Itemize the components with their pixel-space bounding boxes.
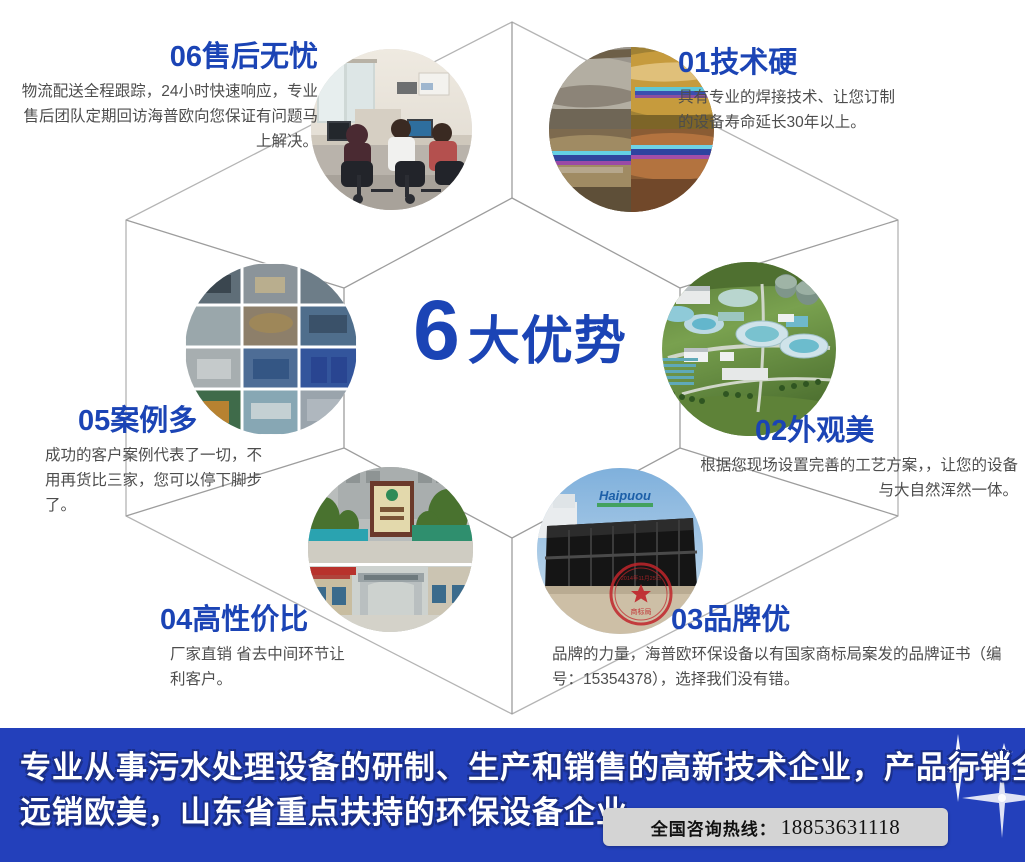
center-word: 大优势: [468, 316, 627, 368]
banner-line-2: 远销欧美，山东省重点扶持的环保设备企业。: [20, 791, 620, 836]
advantage-heading-03: 03品牌优: [671, 605, 1022, 637]
advantage-block-04: 04高性价比 厂家直销 省去中间环节让利客户。: [160, 605, 460, 692]
advantage-heading-04: 04高性价比: [160, 605, 460, 637]
photo-office-staff: [311, 49, 472, 210]
advantage-heading-05: 05案例多: [78, 406, 378, 438]
svg-text:Haipuou: Haipuou: [599, 488, 651, 503]
bottom-banner: 专业从事污水处理设备的研制、生产和销售的高新技术企业，产品行销全国并 远销欧美，…: [0, 728, 1025, 862]
advantage-body-06: 物流配送全程跟踪，24小时快速响应，专业售后团队定期回访海普欧向您保证有问题马上…: [18, 79, 318, 154]
advantage-heading-02: 02外观美: [755, 416, 1018, 448]
hotline-number: 18853631118: [781, 815, 900, 840]
center-title: 6 大优势: [380, 288, 660, 388]
advantage-block-03: 03品牌优 品牌的力量，海普欧环保设备以有国家商标局案发的品牌证书（编号：153…: [552, 605, 1022, 692]
banner-line-1: 专业从事污水处理设备的研制、生产和销售的高新技术企业，产品行销全国并: [20, 746, 620, 791]
advantage-block-05: 05案例多 成功的客户案例代表了一切，不用再货比三家，您可以停下脚步了。: [78, 406, 378, 518]
advantage-block-01: 01技术硬 具有专业的焊接技术、让您订制的设备寿命延长30年以上。: [678, 48, 978, 135]
advantage-block-02: 02外观美 根据您现场设置完善的工艺方案，，让您的设备与大自然浑然一体。: [700, 416, 1018, 503]
advantage-heading-01: 01技术硬: [678, 48, 978, 80]
infographic-stage: 6 大优势: [0, 0, 1025, 862]
advantage-body-02: 根据您现场设置完善的工艺方案，，让您的设备与大自然浑然一体。: [700, 453, 1018, 503]
hotline-label: 全国咨询热线：: [651, 815, 777, 840]
center-number: 6: [413, 288, 458, 372]
advantage-body-01: 具有专业的焊接技术、让您订制的设备寿命延长30年以上。: [678, 85, 910, 135]
hotline-box[interactable]: 全国咨询热线： 18853631118: [603, 808, 948, 846]
advantage-block-06: 06售后无忧 物流配送全程跟踪，24小时快速响应，专业售后团队定期回访海普欧向您…: [18, 42, 318, 154]
advantage-body-04: 厂家直销 省去中间环节让利客户。: [170, 642, 355, 692]
advantage-body-05: 成功的客户案例代表了一切，不用再货比三家，您可以停下脚步了。: [45, 443, 265, 518]
banner-text: 专业从事污水处理设备的研制、生产和销售的高新技术企业，产品行销全国并 远销欧美，…: [20, 746, 620, 836]
photo-aerial-plant: [662, 262, 836, 436]
advantage-body-03: 品牌的力量，海普欧环保设备以有国家商标局案发的品牌证书（编号：15354378）…: [552, 642, 1010, 692]
advantage-heading-06: 06售后无忧: [18, 42, 318, 74]
svg-text:2014年11月25日: 2014年11月25日: [621, 574, 662, 582]
